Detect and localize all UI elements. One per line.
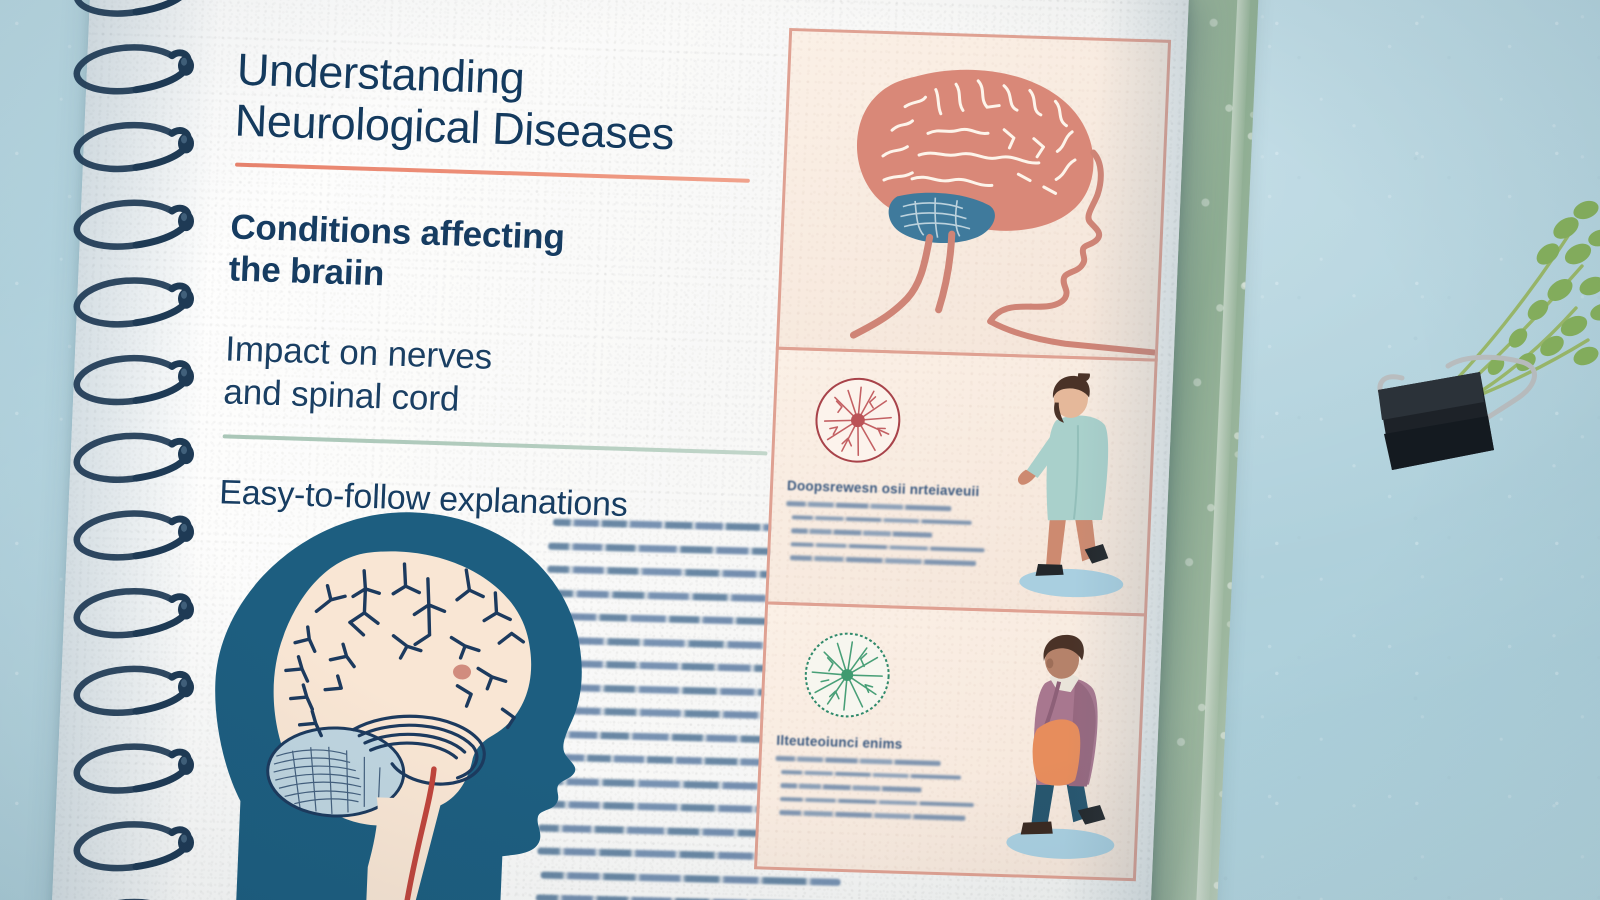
spiral-ring [77,358,194,402]
desk-scene: Understanding Neurological Diseases Cond… [0,0,1600,900]
spiral-binding[interactable] [40,0,230,900]
figure-shadow [1019,567,1124,598]
binder-clip-with-plant [1330,150,1600,480]
panel-column: Doopsrewesn osii nrteiaveuii [754,28,1171,878]
sage-divider [223,434,768,455]
brain-profile-illustration [779,31,1168,359]
panel-body-text [773,756,972,830]
neurological-signs-panel: Ilteuteoiunci enims [754,601,1147,881]
text-column: Understanding Neurological Diseases Cond… [218,45,797,531]
panel-text-line [792,515,972,525]
panel-text-line [791,528,932,537]
page-title: Understanding Neurological Diseases [234,45,798,164]
coral-divider [235,162,750,182]
spiral-ring-tip [178,444,194,464]
spiral-ring-tip [178,600,194,620]
spiral-ring-tip [178,366,194,386]
spiral-ring [77,0,194,14]
figure-back-shoe [1036,564,1064,577]
spiral-ring [77,47,194,91]
subheading-conditions: Conditions affecting the braiin [228,206,791,309]
spinal-branch [853,235,929,337]
spiral-ring [77,436,194,480]
spiral-ring [77,669,194,713]
neuron-icon-green [799,628,895,723]
spiral-ring-tip [178,211,194,231]
panel-body-text [784,501,983,575]
walking-person-figure [986,371,1146,606]
spiral-ring-tip [178,833,194,853]
spiral-ring [77,514,194,558]
spiral-ring-tip [178,289,194,309]
panel-text-line [780,783,921,792]
figure-bag [1031,719,1081,787]
brainstem-spinal-cord [939,234,952,310]
panel-text-line [779,810,965,820]
spiral-ring [77,824,194,868]
brain-anatomy-panel [776,28,1171,362]
jaw-neck-line [990,305,1031,322]
head-brain-illustration [200,500,637,900]
neuron-icon-red [810,373,906,468]
degenerative-conditions-panel: Doopsrewesn osii nrteiaveuii [765,347,1158,617]
spiral-ring [77,591,194,635]
spiral-ring-tip [178,677,194,697]
panel-text-line [776,756,941,766]
binder-clip-body [1378,372,1494,470]
spiral-ring [77,280,194,324]
spiral-ring-tip [178,755,194,775]
spiral-ring [77,203,194,247]
spiral-ring-tip [178,522,194,542]
panel-heading-degenerative: Doopsrewesn osii nrteiaveuii [787,478,984,499]
figure-back-shoe [1021,821,1054,836]
walking-person-with-bag-figure [979,627,1139,868]
spiral-ring-tip [178,56,194,76]
panel-heading-signs: Ilteuteoiunci enims [776,733,973,754]
spiral-ring [77,747,194,791]
shoulder-line [989,321,1156,352]
spiral-ring-tip [178,133,194,153]
spiral-ring [77,125,194,169]
panel-text-line [786,501,951,511]
subheading-impact: Impact on nerves and spinal cord [223,327,786,431]
panel-text-line [791,542,985,553]
panel-text-line [780,796,974,807]
panel-text-line [781,770,961,780]
figure-back-leg [1046,514,1066,569]
panel-text-line [790,555,976,565]
